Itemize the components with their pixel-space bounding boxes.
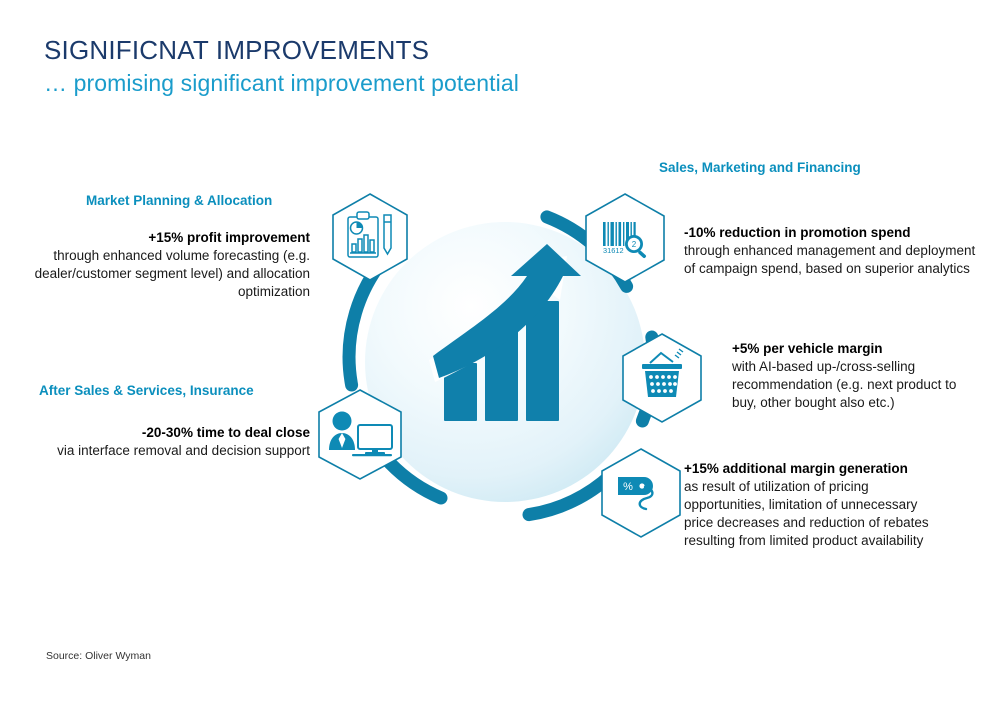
market-planning-body: through enhanced volume forecasting (e.g… xyxy=(35,248,310,299)
text-market-planning: +15% profit improvement through enhanced… xyxy=(20,229,310,301)
text-after-sales: -20-30% time to deal close via interface… xyxy=(20,424,310,460)
text-promotion-spend: -10% reduction in promotion spend throug… xyxy=(684,224,976,278)
barcode-digits: 31612 xyxy=(603,246,624,255)
price-tag-symbol: % xyxy=(623,481,633,493)
source-note: Source: Oliver Wyman xyxy=(46,650,151,662)
hex-after-sales[interactable] xyxy=(312,386,408,484)
improvement-cycle-diagram: 31612 2 xyxy=(334,182,676,542)
additional-margin-body: as result of utilization of pricing oppo… xyxy=(684,479,929,548)
hex-outline xyxy=(319,390,401,479)
slide: SIGNIFICNAT IMPROVEMENTS … promising sig… xyxy=(0,0,1008,720)
hex-outline xyxy=(586,194,664,282)
promotion-spend-body: through enhanced management and deployme… xyxy=(684,243,975,276)
title-block: SIGNIFICNAT IMPROVEMENTS … promising sig… xyxy=(44,36,519,97)
section-header-after-sales-services-insurance: After Sales & Services, Insurance xyxy=(39,383,254,398)
hex-sales-marketing[interactable]: 31612 2 xyxy=(579,191,671,287)
vehicle-margin-body: with AI-based up-/cross-selling recommen… xyxy=(732,359,956,410)
text-additional-margin: +15% additional margin generation as res… xyxy=(684,460,946,550)
after-sales-lead: -20-30% time to deal close xyxy=(142,425,310,440)
after-sales-body: via interface removal and decision suppo… xyxy=(57,443,310,458)
promotion-spend-lead: -10% reduction in promotion spend xyxy=(684,225,911,240)
additional-margin-lead: +15% additional margin generation xyxy=(684,461,908,476)
section-header-sales-marketing-financing: Sales, Marketing and Financing xyxy=(659,160,861,175)
page-title: SIGNIFICNAT IMPROVEMENTS xyxy=(44,36,519,66)
hex-pricing-margin[interactable]: % xyxy=(596,446,686,540)
section-header-market-planning-allocation: Market Planning & Allocation xyxy=(86,193,272,208)
hex-market-planning[interactable] xyxy=(328,191,412,283)
magnifier-digit: 2 xyxy=(632,240,637,249)
hex-vehicle-margin[interactable] xyxy=(617,331,707,425)
page-subtitle: … promising significant improvement pote… xyxy=(44,70,519,98)
market-planning-lead: +15% profit improvement xyxy=(148,230,310,245)
hex-outline xyxy=(333,194,407,280)
vehicle-margin-lead: +5% per vehicle margin xyxy=(732,341,882,356)
text-vehicle-margin: +5% per vehicle margin with AI-based up-… xyxy=(732,340,982,412)
